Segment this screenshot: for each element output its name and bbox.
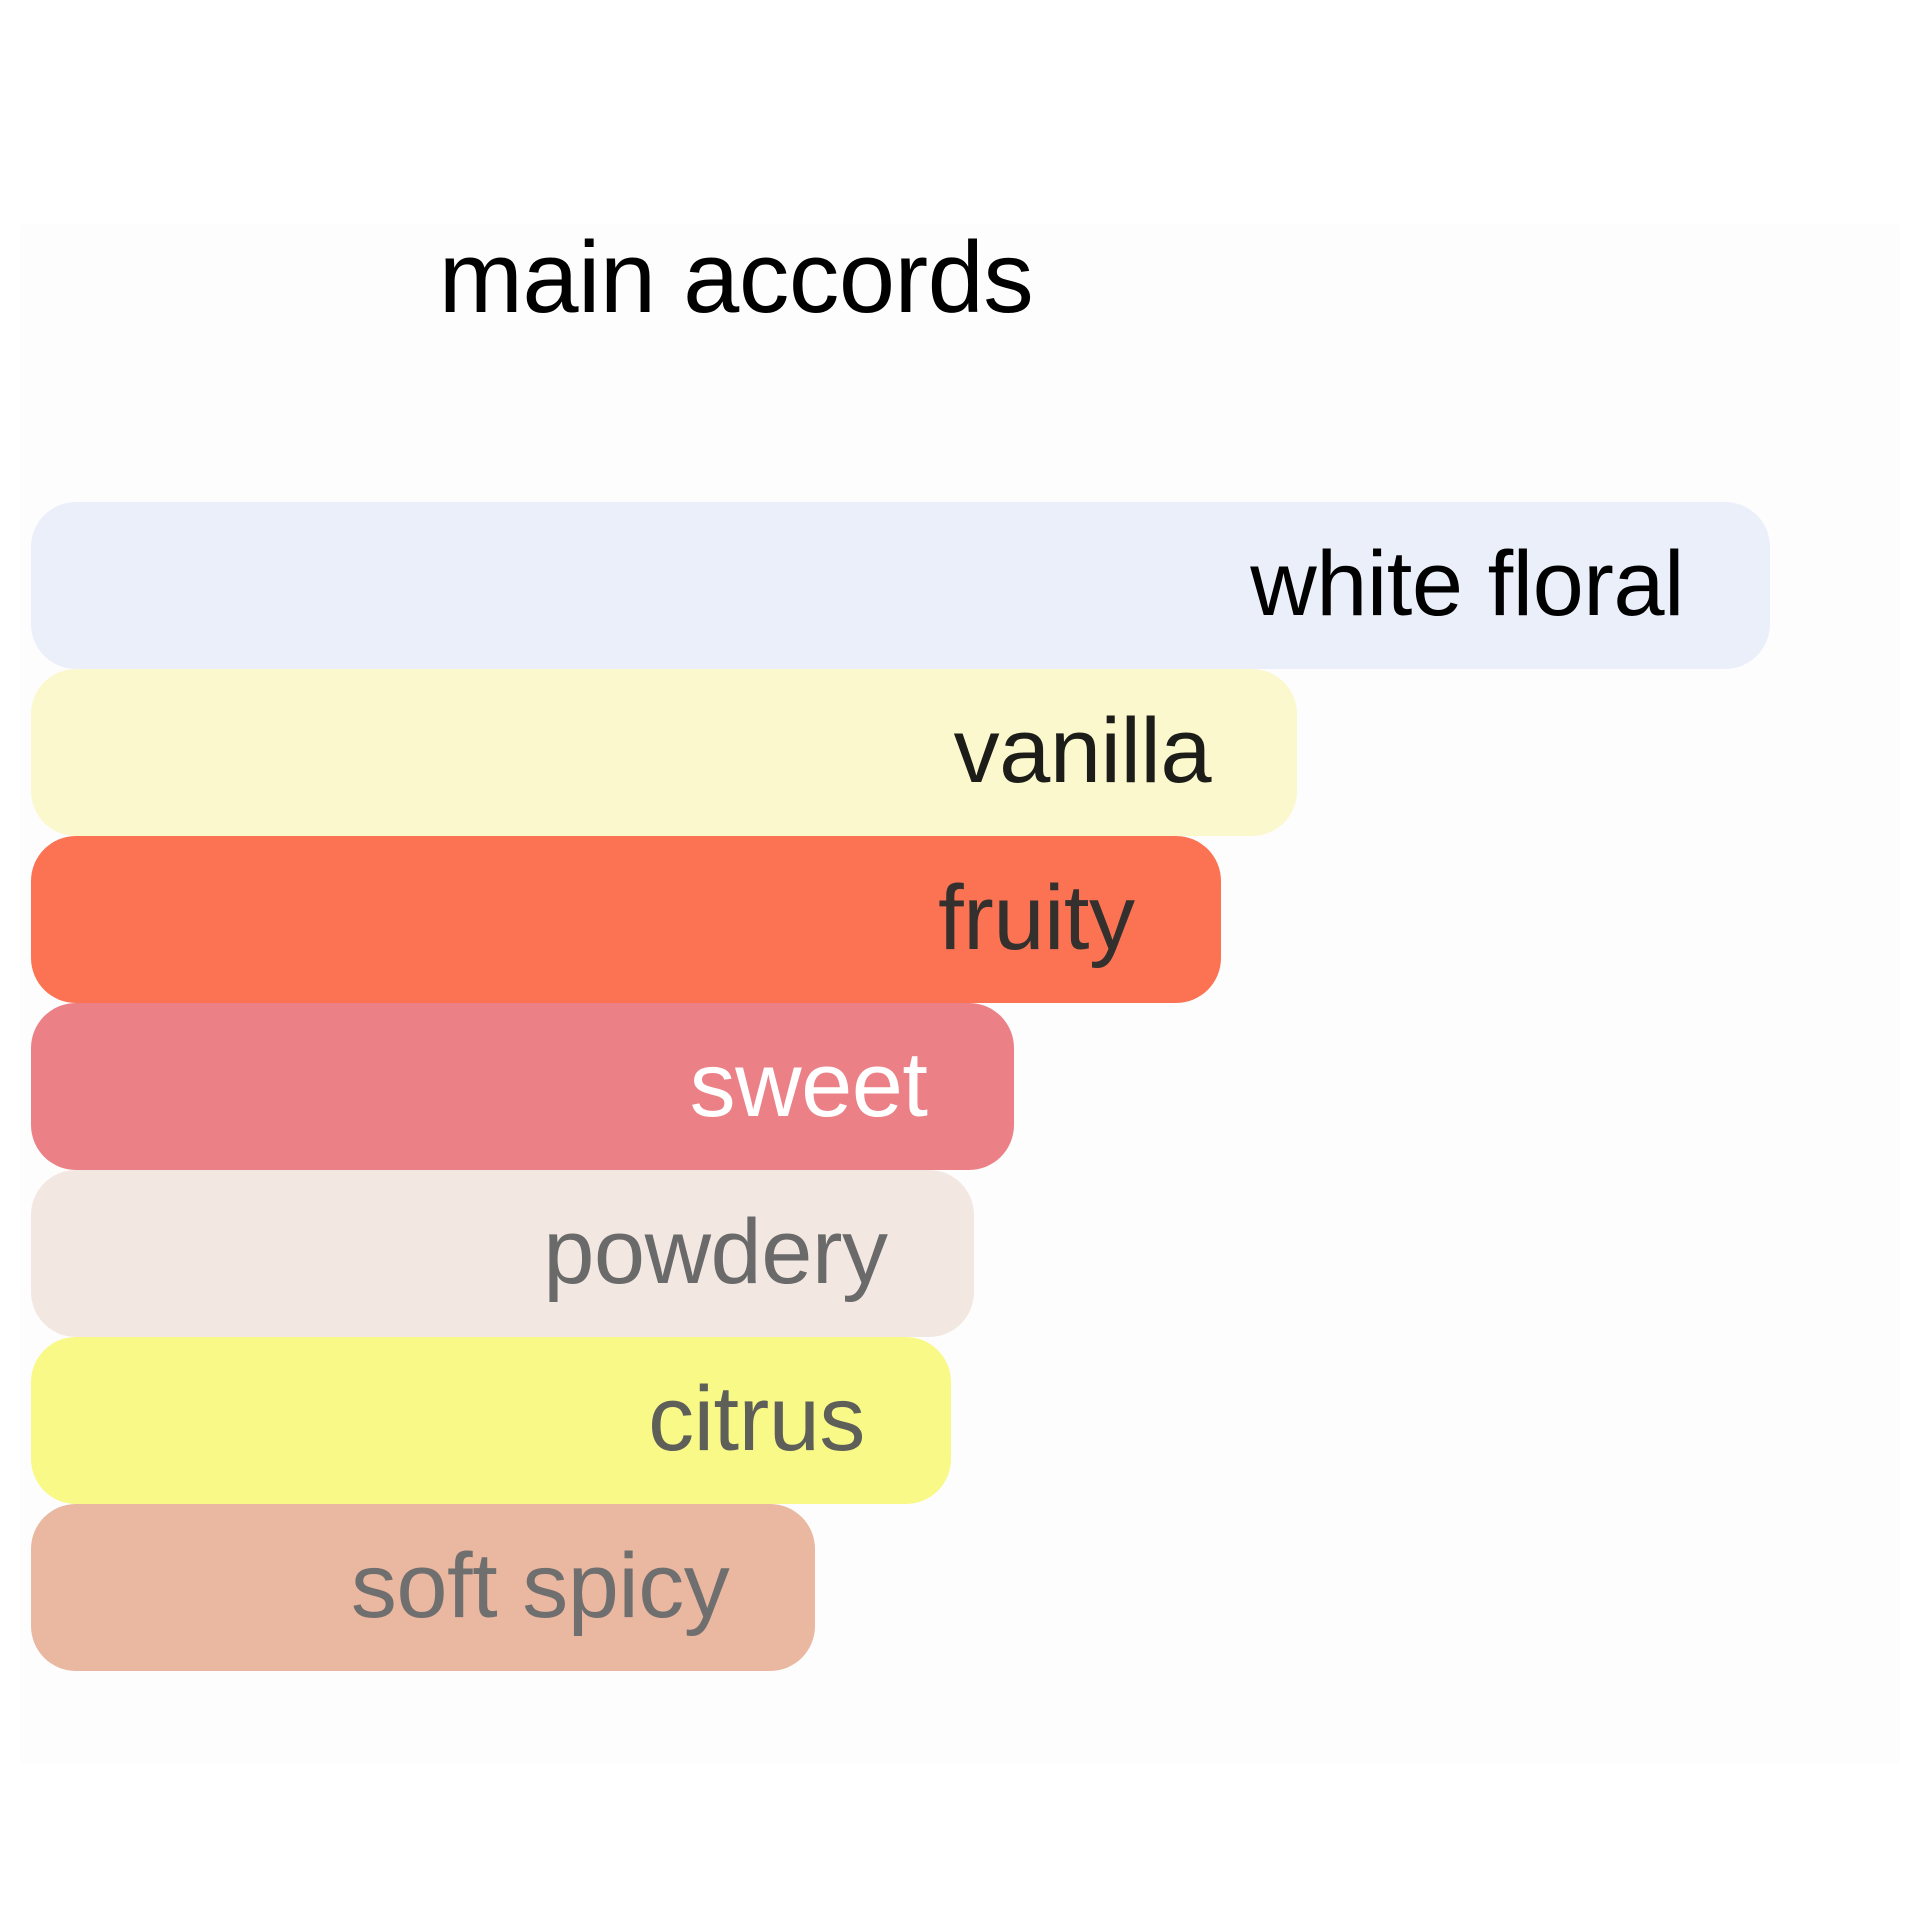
accord-bar-sweet[interactable]: sweet	[31, 1003, 1014, 1170]
page-title: main accords	[31, 228, 1441, 329]
accord-label: sweet	[690, 1039, 1014, 1131]
accord-label: citrus	[648, 1373, 951, 1465]
accord-label: white floral	[1250, 538, 1770, 630]
accord-bar-powdery[interactable]: powdery	[31, 1170, 974, 1337]
accord-bar-vanilla[interactable]: vanilla	[31, 669, 1297, 836]
accord-bar-white-floral[interactable]: white floral	[31, 502, 1770, 669]
accords-bar-list: white floralvanillafruitysweetpowderycit…	[31, 502, 1891, 1702]
accord-bar-citrus[interactable]: citrus	[31, 1337, 951, 1504]
accord-label: fruity	[938, 872, 1220, 964]
accord-label: vanilla	[954, 705, 1297, 797]
accords-widget: main accords white floralvanillafruitysw…	[0, 0, 1920, 1920]
accord-bar-soft-spicy[interactable]: soft spicy	[31, 1504, 815, 1671]
accord-label: powdery	[543, 1206, 973, 1298]
accord-label: soft spicy	[351, 1540, 815, 1632]
accord-bar-fruity[interactable]: fruity	[31, 836, 1221, 1003]
